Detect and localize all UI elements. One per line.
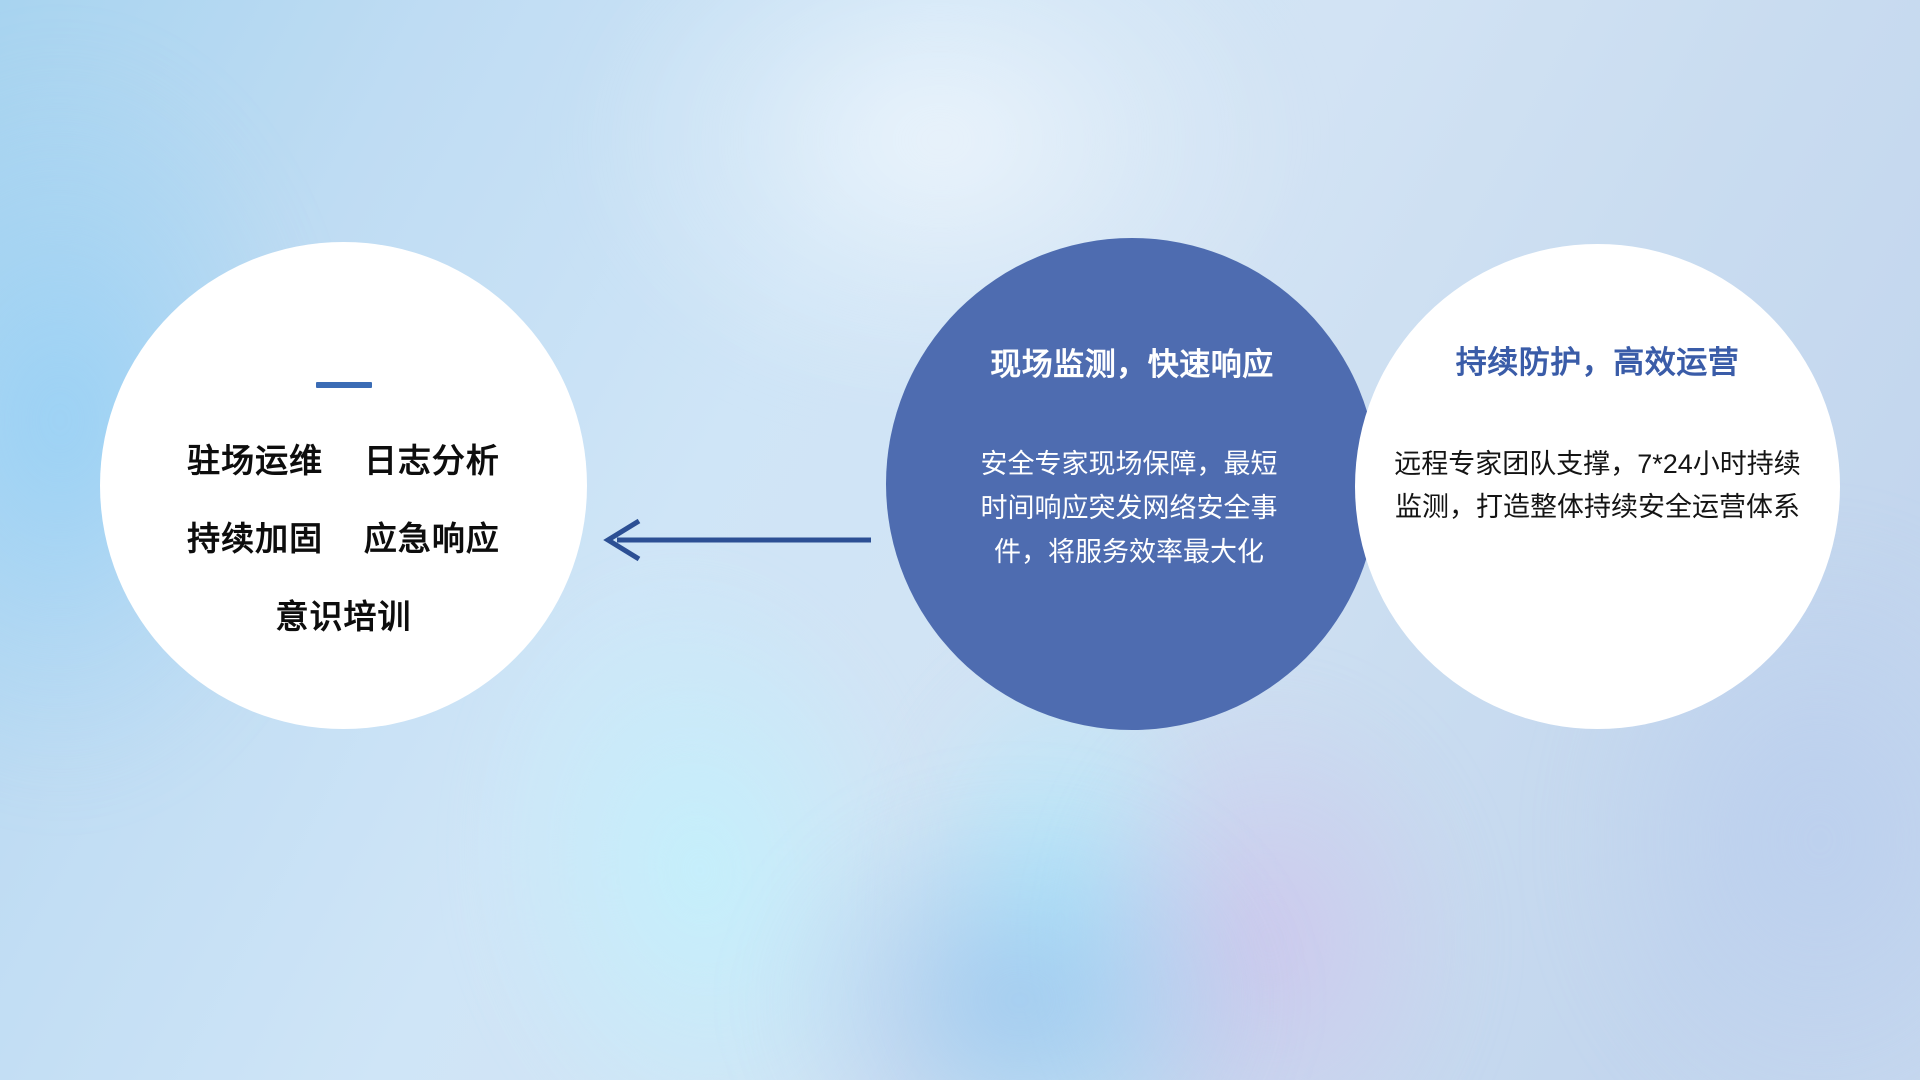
right-card-heading: 持续防护，高效运营 xyxy=(1456,344,1740,381)
left-card-line-1: 驻场运维 日志分析 xyxy=(187,444,500,477)
arrow-left-icon xyxy=(595,508,875,572)
left-card-line-3: 意识培训 xyxy=(276,600,412,633)
mid-card-content: 现场监测，快速响应 安全专家现场保障，最短时间响应突发网络安全事件，将服务效率最… xyxy=(886,238,1378,730)
right-card-content: 持续防护，高效运营 远程专家团队支撑，7*24小时持续监测，打造整体持续安全运营… xyxy=(1355,244,1840,729)
background-glow-blue-lower xyxy=(760,790,1280,1080)
left-card-content: 驻场运维 日志分析 持续加固 应急响应 意识培训 xyxy=(100,242,587,729)
horizontal-dash-icon xyxy=(316,382,372,388)
connector-arrow xyxy=(595,508,875,572)
mid-card-body: 安全专家现场保障，最短时间响应突发网络安全事件，将服务效率最大化 xyxy=(974,443,1284,574)
slide-canvas: 驻场运维 日志分析 持续加固 应急响应 意识培训 现场监测，快速响应 安全专家现… xyxy=(0,0,1920,1080)
mid-card-heading: 现场监测，快速响应 xyxy=(990,346,1274,383)
background-glow-lavender xyxy=(1060,680,1480,1080)
right-card-body: 远程专家团队支撑，7*24小时持续监测，打造整体持续安全运营体系 xyxy=(1390,443,1805,529)
left-card-line-2: 持续加固 应急响应 xyxy=(187,522,500,555)
